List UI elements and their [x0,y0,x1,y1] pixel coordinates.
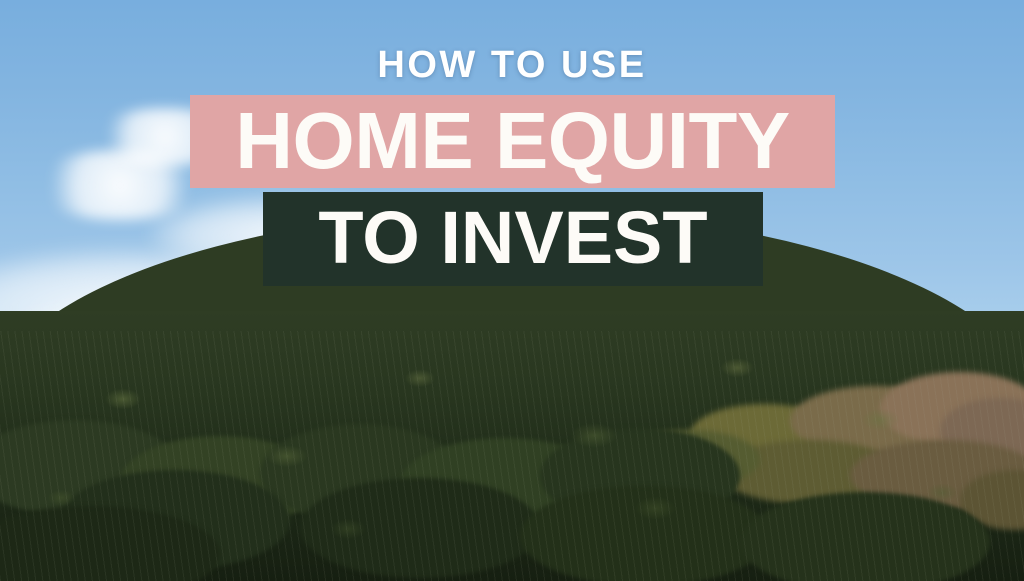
twig-texture [0,331,1024,581]
headline-primary-bar: HOME EQUITY [190,95,835,188]
headline-secondary-bar: TO INVEST [263,192,763,286]
headline-secondary-text: TO INVEST [318,201,707,275]
banner-image: HOW TO USE HOME EQUITY TO INVEST [0,0,1024,581]
headline-primary-text: HOME EQUITY [235,101,790,181]
banner-kicker: HOW TO USE [0,44,1024,86]
